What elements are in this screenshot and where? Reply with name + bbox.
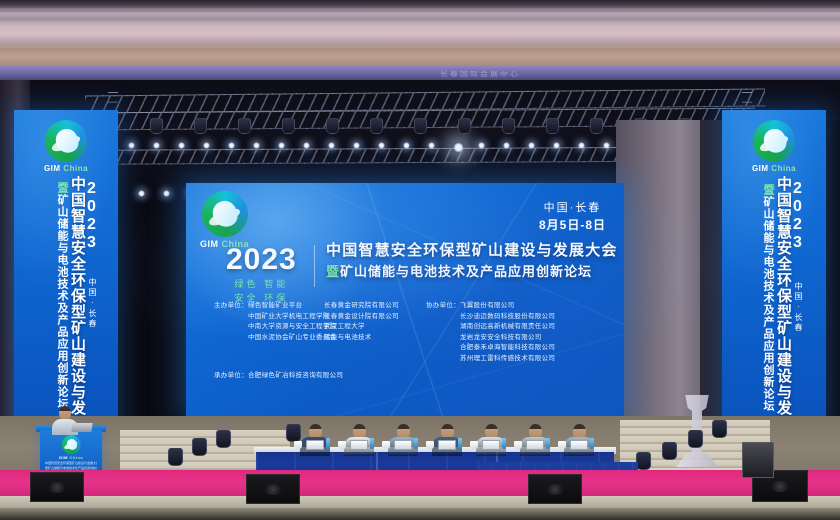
stage-light bbox=[153, 142, 160, 149]
moving-head-light bbox=[502, 118, 515, 134]
host-label: 主办单位： bbox=[214, 301, 248, 364]
stage-light bbox=[328, 142, 335, 149]
podium-laptop bbox=[71, 423, 92, 432]
forum-subtitle: 暨矿山储能与电池技术及产品应用创新论坛 bbox=[326, 263, 614, 281]
venue-valance-text: 长春国际会展中心 bbox=[330, 69, 630, 80]
organizer-label: 承办单位： bbox=[214, 371, 248, 382]
screen-year: 2023 bbox=[226, 245, 297, 275]
screen-title-block: 中国智慧安全环保型矿山建设与发展大会 暨矿山储能与电池技术及产品应用创新论坛 bbox=[326, 241, 614, 281]
banner-left-city: 中国·长春 bbox=[87, 278, 98, 329]
water-bottle bbox=[502, 438, 506, 449]
water-bottle bbox=[458, 438, 462, 449]
paper-cup bbox=[294, 441, 302, 449]
stage-light bbox=[378, 142, 385, 149]
stage-light bbox=[428, 142, 435, 149]
credit-item: 湖南创远高新机械有限责任公司 bbox=[460, 322, 555, 333]
equipment-rack bbox=[742, 442, 774, 478]
stage-light bbox=[478, 142, 485, 149]
stage-light bbox=[138, 190, 145, 197]
moving-head-light bbox=[238, 118, 251, 134]
paper-cup bbox=[426, 441, 434, 449]
screen-city: 中国·长春 bbox=[539, 201, 606, 217]
gim-logo-mark-icon bbox=[753, 120, 795, 162]
moving-head-light bbox=[414, 118, 427, 134]
podium-logo: GIM China bbox=[59, 435, 83, 460]
credit-item: 长沙迪迈数码科技股份有限公司 bbox=[460, 312, 555, 323]
stage-light bbox=[453, 142, 464, 153]
stage-light bbox=[178, 142, 185, 149]
table-nameplate bbox=[570, 440, 588, 450]
moving-head-light bbox=[326, 118, 339, 134]
banner-right-city: 中国·长春 bbox=[793, 282, 804, 333]
floor-moving-light bbox=[636, 452, 651, 470]
table-nameplate bbox=[306, 440, 324, 450]
credit-item: 合肥泰禾卓海智能科技有限公司 bbox=[460, 343, 555, 354]
stage-light bbox=[228, 142, 235, 149]
floor-moving-light bbox=[688, 430, 703, 448]
floor-moving-light bbox=[168, 448, 183, 466]
floor-moving-light bbox=[286, 424, 301, 442]
title-divider bbox=[314, 245, 315, 287]
podium-line-1: 中国智慧安全环保型矿山建设与发展大会 bbox=[45, 461, 97, 465]
speaker-head bbox=[59, 406, 71, 420]
podium-logo-text: GIM China bbox=[59, 455, 83, 460]
title-amp: 暨 bbox=[326, 264, 340, 279]
screen-location-block: 中国·长春 8月5日-8日 bbox=[539, 201, 606, 234]
stage-light bbox=[578, 142, 585, 149]
credit-item: 龙岩龙安安全科技有限公司 bbox=[460, 333, 555, 344]
cohost-column: 协办单位： 飞翼股份有限公司长沙迪迈数码科技股份有限公司湖南创远高新机械有限责任… bbox=[426, 301, 610, 364]
moving-head-light bbox=[590, 118, 603, 134]
stage-light bbox=[503, 142, 510, 149]
cohost-list: 飞翼股份有限公司长沙迪迈数码科技股份有限公司湖南创远高新机械有限责任公司龙岩龙安… bbox=[460, 301, 555, 364]
water-bottle bbox=[590, 438, 594, 449]
stage-light bbox=[528, 142, 535, 149]
stage-light bbox=[353, 142, 360, 149]
floor-monitor-1 bbox=[30, 472, 84, 502]
moving-head-light bbox=[282, 118, 295, 134]
front-stage-shadow bbox=[0, 508, 840, 520]
organizer-row: 承办单位： 合肥绿色矿冶科技咨询有限公司 bbox=[214, 371, 610, 382]
stage-light bbox=[553, 142, 560, 149]
screen-date: 8月5日-8日 bbox=[539, 217, 606, 234]
floor-moving-light bbox=[712, 420, 727, 438]
hall-ceiling: 长春国际会展中心 bbox=[0, 0, 840, 86]
moving-head-light bbox=[546, 118, 559, 134]
water-bottle bbox=[326, 438, 330, 449]
water-bottle bbox=[414, 438, 418, 449]
gim-logo-mark-icon bbox=[45, 120, 87, 162]
stage-light bbox=[303, 142, 310, 149]
gim-logo-mark-icon bbox=[62, 435, 81, 454]
stage-light bbox=[403, 142, 410, 149]
credit-item: 长春黄金研究院有限公司 bbox=[324, 301, 399, 312]
conference-title: 中国智慧安全环保型矿山建设与发展大会 bbox=[326, 241, 614, 261]
stage-light bbox=[203, 142, 210, 149]
stage-light bbox=[278, 142, 285, 149]
stage-light bbox=[253, 142, 260, 149]
table-nameplate bbox=[438, 440, 456, 450]
floor-moving-light bbox=[192, 438, 207, 456]
stage-light bbox=[603, 142, 610, 149]
credit-item: 储能与电池技术 bbox=[324, 333, 399, 344]
organizer-value: 合肥绿色矿冶科技咨询有限公司 bbox=[248, 371, 343, 382]
paper-cup bbox=[514, 441, 522, 449]
banner-left-logo-text: GIM China bbox=[44, 164, 88, 173]
paper-cup bbox=[470, 441, 478, 449]
credit-item: 长春黄金设计院有限公司 bbox=[324, 312, 399, 323]
host-column-2: 长春黄金研究院有限公司长春黄金设计院有限公司武汉工程大学储能与电池技术 bbox=[324, 301, 416, 364]
floor-monitor-2 bbox=[246, 474, 300, 504]
table-nameplate bbox=[350, 440, 368, 450]
banner-right-logo: GIM China bbox=[752, 120, 796, 173]
table-nameplate bbox=[394, 440, 412, 450]
banner-right-subtitle: 暨矿山储能与电池技术及产品应用创新论坛 bbox=[760, 184, 776, 412]
floor-moving-light bbox=[216, 430, 231, 448]
host-column-1: 主办单位： 绿色智能矿业平台中国矿业大学机电工程学院中南大学资源与安全工程学院中… bbox=[214, 301, 314, 364]
stage-light bbox=[163, 190, 170, 197]
paper-cup bbox=[338, 441, 346, 449]
floor-monitor-3 bbox=[528, 474, 582, 504]
credit-item: 苏州理工雷科传感技术有限公司 bbox=[460, 354, 555, 365]
moving-head-light bbox=[458, 118, 471, 134]
moving-head-light bbox=[370, 118, 383, 134]
floor-moving-light bbox=[662, 442, 677, 460]
conference-stage-photo: 长春国际会展中心 GIM China 中国·长春 8月5日-8日 2023 绿色… bbox=[0, 0, 840, 520]
credit-item: 飞翼股份有限公司 bbox=[460, 301, 555, 312]
moving-head-light bbox=[150, 118, 163, 134]
stage-light bbox=[128, 142, 135, 149]
host-list-2: 长春黄金研究院有限公司长春黄金设计院有限公司武汉工程大学储能与电池技术 bbox=[324, 301, 399, 364]
table-nameplate bbox=[482, 440, 500, 450]
main-led-screen: GIM China 中国·长春 8月5日-8日 2023 绿色 智能 安全 环保… bbox=[186, 183, 624, 416]
credits-block: 主办单位： 绿色智能矿业平台中国矿业大学机电工程学院中南大学资源与安全工程学院中… bbox=[214, 301, 610, 382]
paper-cup bbox=[558, 441, 566, 449]
paper-cup bbox=[382, 441, 390, 449]
water-bottle bbox=[370, 438, 374, 449]
cohost-label: 协办单位： bbox=[426, 301, 460, 364]
screen-year-block: 2023 绿色 智能 安全 环保 bbox=[226, 245, 297, 306]
banner-left-logo: GIM China bbox=[44, 120, 88, 173]
gim-logo-mark-icon bbox=[202, 191, 248, 237]
banner-right-logo-text: GIM China bbox=[752, 164, 796, 173]
banner-left-subtitle: 暨矿山储能与电池技术及产品应用创新论坛 bbox=[54, 182, 70, 410]
credit-item: 武汉工程大学 bbox=[324, 322, 399, 333]
table-nameplate bbox=[526, 440, 544, 450]
water-bottle bbox=[546, 438, 550, 449]
moving-head-light bbox=[194, 118, 207, 134]
gim-china-logo: GIM China bbox=[200, 191, 249, 249]
